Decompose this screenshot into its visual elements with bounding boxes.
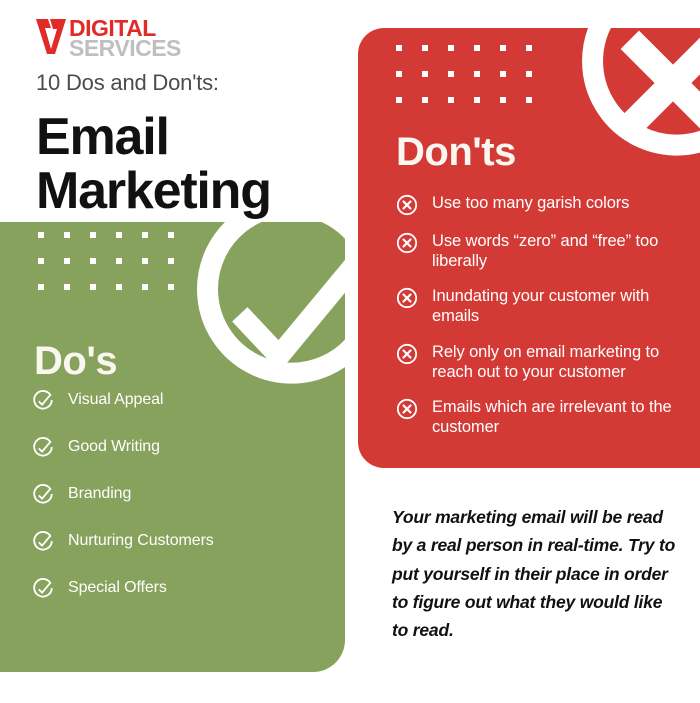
grid-dot — [90, 232, 96, 238]
grid-dot — [142, 258, 148, 264]
grid-dot — [64, 284, 70, 290]
dos-panel: Do's Visual Appeal Good Writing — [0, 222, 345, 672]
list-item-label: Visual Appeal — [68, 390, 163, 410]
check-circle-icon — [32, 531, 54, 553]
brand-wordmark: DIGITAL SERVICES — [69, 18, 181, 59]
check-circle-icon — [32, 484, 54, 506]
grid-dot — [448, 97, 454, 103]
list-item-label: Emails which are irrelevant to the custo… — [432, 397, 686, 437]
grid-dot — [116, 284, 122, 290]
dot-grid-pattern — [38, 232, 194, 310]
grid-dot — [90, 284, 96, 290]
list-item: Rely only on email marketing to reach ou… — [396, 342, 686, 382]
list-item-label: Use words “zero” and “free” too liberall… — [432, 231, 686, 271]
grid-dot — [526, 71, 532, 77]
x-circle-icon — [396, 232, 418, 254]
page-title-line-1: Email — [36, 110, 336, 164]
grid-dot — [526, 45, 532, 51]
donts-heading: Don'ts — [396, 130, 516, 175]
closing-quote: Your marketing email will be read by a r… — [392, 503, 677, 645]
check-circle-icon — [32, 390, 54, 412]
grid-dot — [396, 45, 402, 51]
grid-dot — [38, 232, 44, 238]
x-circle-icon — [396, 398, 418, 420]
page-title-line-2: Marketing — [36, 164, 336, 218]
grid-dot — [116, 258, 122, 264]
list-item-label: Good Writing — [68, 437, 160, 457]
list-item: Use too many garish colors — [396, 193, 686, 216]
list-item-label: Branding — [68, 484, 131, 504]
grid-dot — [474, 45, 480, 51]
grid-dot — [64, 232, 70, 238]
grid-dot — [168, 258, 174, 264]
grid-dot — [422, 97, 428, 103]
grid-dot — [500, 71, 506, 77]
grid-dot — [116, 232, 122, 238]
grid-dot — [38, 284, 44, 290]
dot-grid-pattern — [396, 45, 552, 123]
x-circle-icon — [396, 343, 418, 365]
x-circle-icon — [396, 287, 418, 309]
list-item: Use words “zero” and “free” too liberall… — [396, 231, 686, 271]
grid-dot — [64, 258, 70, 264]
list-item-label: Special Offers — [68, 578, 167, 598]
grid-dot — [448, 71, 454, 77]
list-item: Special Offers — [32, 578, 322, 600]
grid-dot — [142, 284, 148, 290]
list-item: Nurturing Customers — [32, 531, 322, 553]
grid-dot — [448, 45, 454, 51]
grid-dot — [526, 97, 532, 103]
brand-logo: DIGITAL SERVICES — [36, 18, 336, 58]
grid-dot — [422, 45, 428, 51]
dos-heading: Do's — [34, 339, 117, 384]
dos-list: Visual Appeal Good Writing Branding — [32, 390, 322, 625]
large-x-circle-icon — [558, 28, 700, 198]
check-circle-icon — [32, 578, 54, 600]
donts-list: Use too many garish colors Use words “ze… — [396, 193, 686, 452]
v-mark-icon — [36, 18, 66, 54]
grid-dot — [474, 71, 480, 77]
grid-dot — [38, 258, 44, 264]
grid-dot — [168, 284, 174, 290]
list-item: Emails which are irrelevant to the custo… — [396, 397, 686, 437]
list-item-label: Use too many garish colors — [432, 193, 629, 213]
page-title: Email Marketing — [36, 110, 336, 218]
grid-dot — [142, 232, 148, 238]
infographic-canvas: DIGITAL SERVICES 10 Dos and Don'ts: Emai… — [0, 0, 700, 703]
grid-dot — [396, 97, 402, 103]
header-subtitle: 10 Dos and Don'ts: — [36, 70, 336, 96]
list-item: Visual Appeal — [32, 390, 322, 412]
list-item-label: Rely only on email marketing to reach ou… — [432, 342, 686, 382]
list-item-label: Nurturing Customers — [68, 531, 214, 551]
grid-dot — [90, 258, 96, 264]
donts-panel: Don'ts Use too many garish colors Use wo… — [358, 28, 700, 468]
list-item: Inundating your customer with emails — [396, 286, 686, 326]
list-item: Good Writing — [32, 437, 322, 459]
grid-dot — [396, 71, 402, 77]
check-circle-icon — [32, 437, 54, 459]
grid-dot — [422, 71, 428, 77]
brand-line-services: SERVICES — [69, 39, 181, 59]
header: DIGITAL SERVICES 10 Dos and Don'ts: Emai… — [36, 18, 336, 218]
grid-dot — [500, 97, 506, 103]
grid-dot — [168, 232, 174, 238]
list-item-label: Inundating your customer with emails — [432, 286, 686, 326]
list-item: Branding — [32, 484, 322, 506]
grid-dot — [500, 45, 506, 51]
grid-dot — [474, 97, 480, 103]
x-circle-icon — [396, 194, 418, 216]
